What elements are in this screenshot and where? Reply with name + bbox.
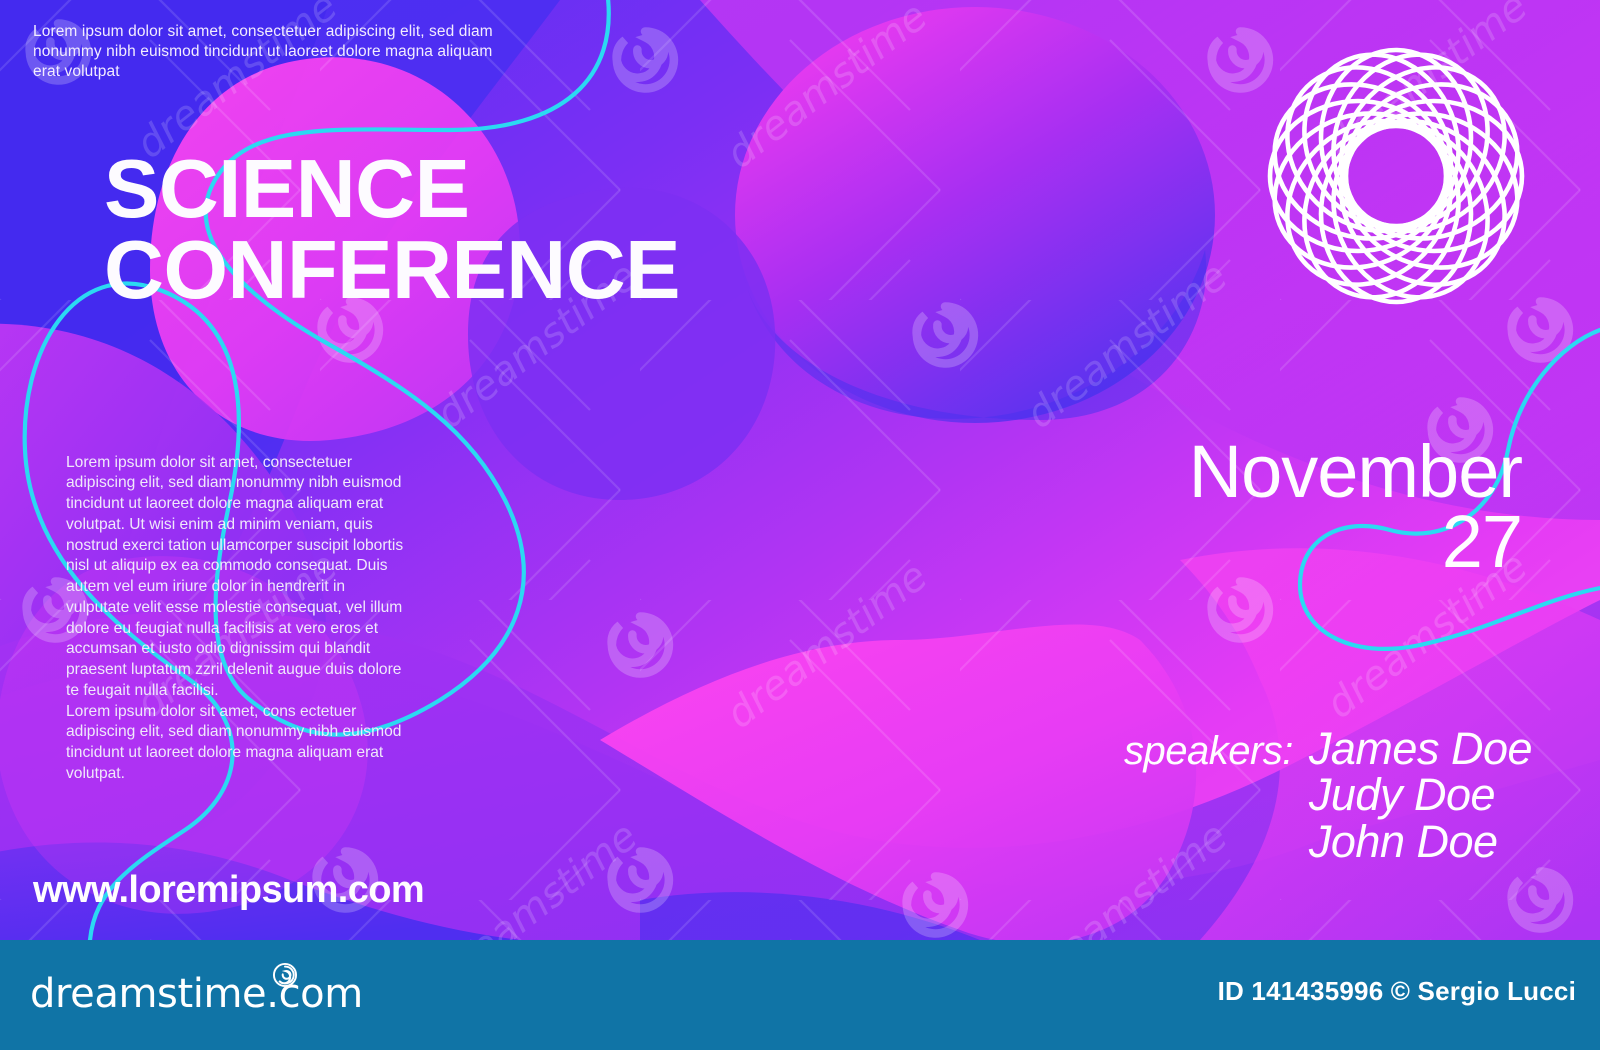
website-url[interactable]: www.loremipsum.com [33, 869, 424, 912]
dreamstime-footer-bar: dreamstime.com ID 141435996 © Sergio Luc… [0, 940, 1600, 1050]
body-copy-paragraph-1: Lorem ipsum dolor sit amet, consectetuer… [66, 454, 403, 699]
event-date: November 27 [1092, 437, 1522, 578]
image-credit: ID 141435996 © Sergio Lucci [1218, 976, 1576, 1007]
top-note: Lorem ipsum dolor sit amet, consectetuer… [33, 22, 513, 81]
speakers-label: speakers: [1124, 729, 1293, 774]
speakers-block: speakers: James Doe Judy Doe John Doe [1124, 726, 1532, 865]
speakers-row: speakers: James Doe Judy Doe John Doe [1124, 726, 1532, 865]
registered-spiral-icon [272, 962, 298, 988]
poster-text-layer: Lorem ipsum dolor sit amet, consectetuer… [0, 0, 1600, 940]
poster-canvas: dreamstime dreamstime dreamstime dreamst… [0, 0, 1600, 1050]
page-title: SCIENCE CONFERENCE [104, 148, 680, 311]
dreamstime-brand[interactable]: dreamstime.com [30, 971, 363, 1017]
body-copy-paragraph-2: Lorem ipsum dolor sit amet, cons ectetue… [66, 702, 406, 785]
body-copy-block: Lorem ipsum dolor sit amet, consectetuer… [66, 432, 406, 805]
poster-artwork: dreamstime dreamstime dreamstime dreamst… [0, 0, 1600, 940]
speakers-names: James Doe Judy Doe John Doe [1309, 726, 1532, 865]
